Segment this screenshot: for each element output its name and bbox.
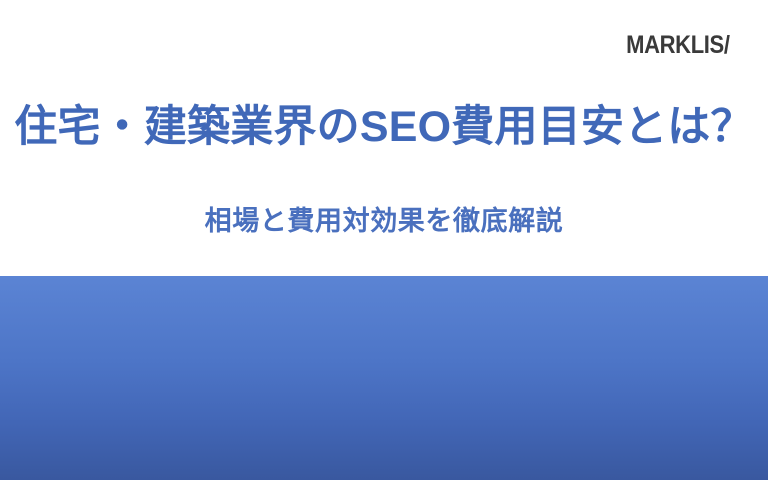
- header-white-section: MARKLIS/ 住宅・建築業界のSEO費用目安とは？ 相場と費用対効果を徹底解…: [0, 0, 768, 276]
- page-title: 住宅・建築業界のSEO費用目安とは？: [0, 102, 768, 153]
- footer-blue-section: 住宅・建築業界WEBマーケティング会社が 詳しく解説: [0, 276, 768, 480]
- brand-logo[interactable]: MARKLIS/: [626, 33, 730, 58]
- page-subtitle: 相場と費用対効果を徹底解説: [0, 205, 768, 237]
- slide-canvas: MARKLIS/ 住宅・建築業界のSEO費用目安とは？ 相場と費用対効果を徹底解…: [0, 0, 768, 480]
